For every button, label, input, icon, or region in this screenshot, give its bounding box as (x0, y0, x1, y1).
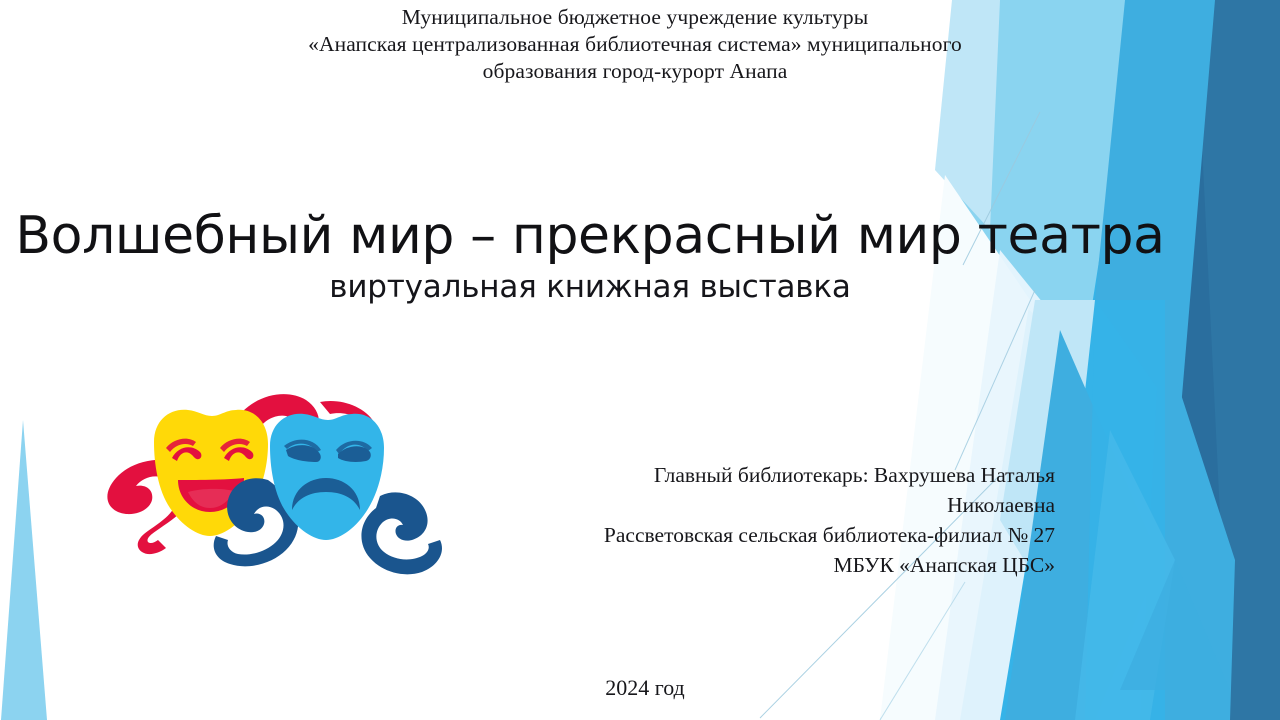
facet-hairline-mid (955, 290, 1035, 470)
presentation-slide: Муниципальное бюджетное учреждение культ… (0, 0, 1280, 720)
blue-ribbon-right (361, 492, 442, 574)
institution-header-line-1: Муниципальное бюджетное учреждение культ… (255, 4, 1015, 31)
theatre-masks-illustration (92, 384, 448, 596)
credits-line-4: МБУК «Анапская ЦБС» (515, 550, 1055, 580)
page-title: Волшебный мир – прекрасный мир театра (0, 206, 1180, 266)
facet-bottom-triangle (1120, 560, 1230, 690)
credits-line-1: Главный библиотекарь: Вахрушева Наталья (515, 460, 1055, 490)
credits-line-2: Николаевна (515, 490, 1055, 520)
institution-header-line-2: «Анапская централизованная библиотечная … (255, 31, 1015, 58)
facet-bright-wedge (880, 0, 1200, 720)
institution-header: Муниципальное бюджетное учреждение культ… (255, 4, 1015, 85)
year-label: 2024 год (0, 674, 1280, 702)
title-block: Волшебный мир – прекрасный мир театра ви… (0, 206, 1180, 306)
facet-dark-band (1120, 0, 1280, 720)
credits-block: Главный библиотекарь: Вахрушева Наталья … (515, 460, 1055, 580)
credits-line-3: Рассветовская сельская библиотека-филиал… (515, 520, 1055, 550)
institution-header-line-3: образования город-курорт Анапа (255, 58, 1015, 85)
facet-center-v (1085, 300, 1165, 720)
facet-diamond-lower-right (1140, 330, 1235, 720)
facet-dark-band-2 (1195, 0, 1280, 720)
page-subtitle: виртуальная книжная выставка (0, 268, 1180, 306)
decorative-facet-ribbons (0, 0, 1280, 720)
